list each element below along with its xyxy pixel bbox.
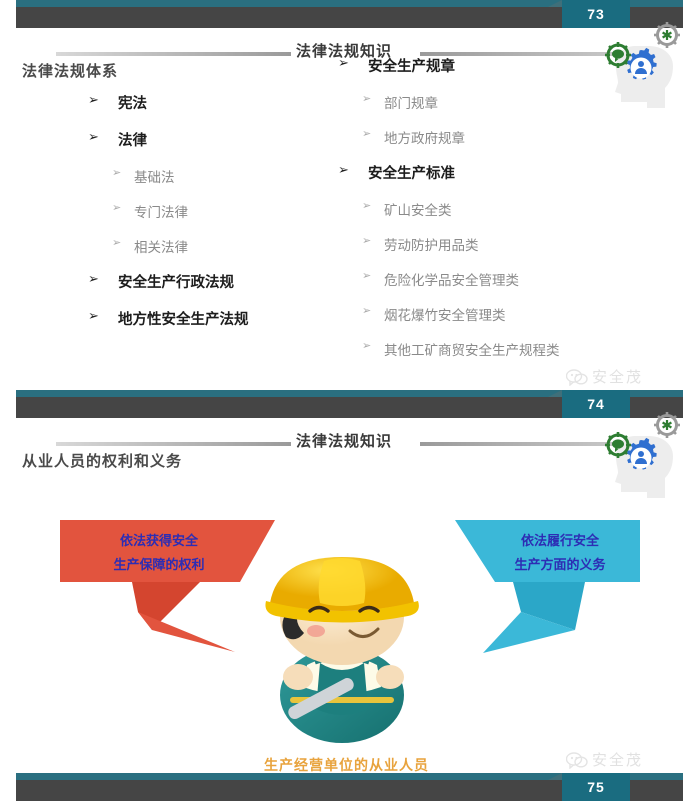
mascot-arm-right	[376, 665, 404, 689]
list-item-label: 劳动防护用品类	[384, 234, 479, 254]
list-item-label: 部门规章	[384, 92, 438, 112]
bullet-arrow-icon: ➢	[112, 166, 134, 179]
slide-legal-system: 法律法规知识 法律法规体系	[0, 30, 693, 390]
list-item-label: 烟花爆竹安全管理类	[384, 304, 506, 324]
bullet-arrow-icon: ➢	[362, 304, 384, 317]
list-item: ➢安全生产标准	[338, 162, 560, 183]
wechat-bubble-icon	[566, 368, 588, 386]
list-item: ➢地方性安全生产法规	[88, 308, 249, 329]
list-item: ➢专门法律	[88, 201, 249, 221]
list-item-label: 地方性安全生产法规	[118, 308, 249, 329]
watermark-top: 安全茂	[566, 366, 643, 387]
callout-rights-line1: 依法获得安全	[74, 530, 244, 552]
list-item: ➢劳动防护用品类	[338, 234, 560, 254]
page-bar-notch	[548, 0, 562, 7]
page-subtitle: 法律法规体系	[22, 60, 118, 81]
gray-gear-asterisk-icon	[654, 22, 680, 48]
list-item-label: 其他工矿商贸安全生产规程类	[384, 339, 560, 359]
bullet-arrow-icon: ➢	[112, 236, 134, 249]
bullet-arrow-icon: ➢	[88, 129, 118, 145]
bullet-arrow-icon: ➢	[362, 269, 384, 282]
watermark-bottom: 安全茂	[566, 749, 643, 770]
list-item: ➢相关法律	[88, 236, 249, 256]
list-item-label: 法律	[118, 129, 147, 150]
page-bar-74: 74	[0, 390, 693, 420]
list-item-label: 安全生产行政法规	[118, 271, 234, 292]
watermark-label: 安全茂	[592, 749, 643, 770]
page-number-badge: 75	[562, 773, 630, 801]
bullet-arrow-icon: ➢	[338, 55, 368, 71]
bullet-arrow-icon: ➢	[88, 92, 118, 108]
list-item: ➢基础法	[88, 166, 249, 186]
list-item: ➢矿山安全类	[338, 199, 560, 219]
mascot-cheek	[307, 625, 325, 637]
slide-header: 法律法规知识 从业人员的权利和义务	[0, 420, 693, 482]
list-item-label: 矿山安全类	[384, 199, 452, 219]
page-bar-notch	[548, 773, 562, 780]
page-bar-notch	[548, 390, 562, 397]
page-bar-75: 75	[0, 773, 693, 803]
watermark-label: 安全茂	[592, 366, 643, 387]
callout-duties: 依法履行安全 生产方面的义务	[425, 520, 640, 660]
list-item: ➢烟花爆竹安全管理类	[338, 304, 560, 324]
list-item-label: 相关法律	[134, 236, 188, 256]
list-item: ➢地方政府规章	[338, 127, 560, 147]
mascot-arm-left	[283, 664, 313, 690]
callout-rights-tail	[132, 582, 200, 630]
slide-worker-rights: 法律法规知识 从业人员的权利和义务	[0, 420, 693, 773]
bullet-arrow-icon: ➢	[362, 92, 384, 105]
page-title: 法律法规知识	[296, 430, 392, 451]
safety-worker-mascot	[232, 545, 452, 750]
list-item-label: 宪法	[118, 92, 147, 113]
list-item-label: 危险化学品安全管理类	[384, 269, 519, 289]
list-item: ➢部门规章	[338, 92, 560, 112]
header-rule-left	[56, 442, 291, 446]
bullet-arrow-icon: ➢	[88, 271, 118, 287]
list-item-label: 安全生产规章	[368, 55, 455, 76]
list-item: ➢安全生产规章	[338, 55, 560, 76]
bullet-arrow-icon: ➢	[362, 339, 384, 352]
bullet-arrow-icon: ➢	[338, 162, 368, 178]
list-item: ➢其他工矿商贸安全生产规程类	[338, 339, 560, 359]
page-subtitle: 从业人员的权利和义务	[22, 450, 182, 471]
list-item-label: 基础法	[134, 166, 175, 186]
header-rule-left	[56, 52, 291, 56]
list-item-label: 专门法律	[134, 201, 188, 221]
list-item-label: 安全生产标准	[368, 162, 455, 183]
bullet-arrow-icon: ➢	[112, 201, 134, 214]
list-item: ➢安全生产行政法规	[88, 271, 249, 292]
wechat-bubble-icon	[566, 751, 588, 769]
callout-duties-line2: 生产方面的义务	[485, 554, 635, 576]
list-item: ➢宪法	[88, 92, 249, 113]
legal-system-left-column: ➢宪法➢法律➢基础法➢专门法律➢相关法律➢安全生产行政法规➢地方性安全生产法规	[88, 92, 249, 345]
page-bar-73: 73	[0, 0, 693, 30]
list-item: ➢法律	[88, 129, 249, 150]
gear-head-decoration	[591, 412, 687, 498]
bullet-arrow-icon: ➢	[362, 199, 384, 212]
gear-head-decoration	[591, 22, 687, 108]
callout-rights-line2: 生产保障的权利	[74, 554, 244, 576]
bullet-arrow-icon: ➢	[362, 234, 384, 247]
gray-gear-asterisk-icon	[654, 412, 680, 438]
bullet-arrow-icon: ➢	[362, 127, 384, 140]
legal-system-right-column: ➢安全生产规章➢部门规章➢地方政府规章➢安全生产标准➢矿山安全类➢劳动防护用品类…	[338, 55, 560, 374]
bullet-arrow-icon: ➢	[88, 308, 118, 324]
list-item: ➢危险化学品安全管理类	[338, 269, 560, 289]
callout-duties-line1: 依法履行安全	[485, 530, 635, 552]
list-item-label: 地方政府规章	[384, 127, 465, 147]
